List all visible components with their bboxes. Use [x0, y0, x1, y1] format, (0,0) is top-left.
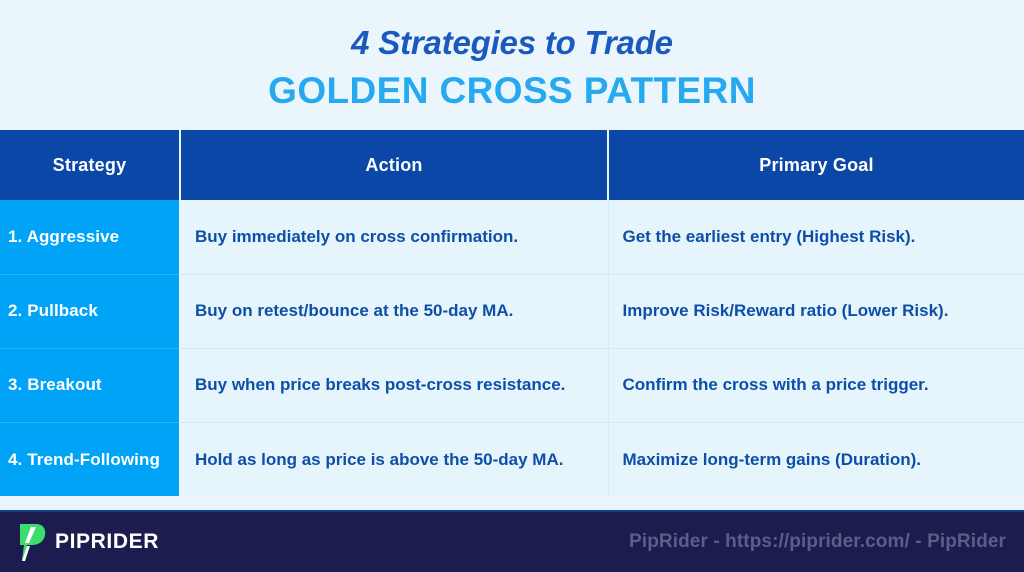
column-header-primary-goal: Primary Goal — [608, 130, 1024, 200]
brand-name: PIPRIDER — [55, 530, 159, 554]
title-block: 4 Strategies to Trade GOLDEN CROSS PATTE… — [0, 0, 1024, 130]
cell-action: Buy immediately on cross confirmation. — [180, 200, 608, 274]
cell-action: Buy when price breaks post-cross resista… — [180, 348, 608, 422]
footer-bar: PIPRIDER PipRider - https://piprider.com… — [0, 510, 1024, 572]
table-row: 3. Breakout Buy when price breaks post-c… — [0, 348, 1024, 422]
cell-primary-goal: Get the earliest entry (Highest Risk). — [608, 200, 1024, 274]
cell-action: Hold as long as price is above the 50-da… — [180, 422, 608, 496]
strategies-table: Strategy Action Primary Goal 1. Aggressi… — [0, 130, 1024, 496]
cell-strategy: 1. Aggressive — [0, 200, 180, 274]
footer-attribution: PipRider - https://piprider.com/ - PipRi… — [629, 531, 1006, 553]
table-header: Strategy Action Primary Goal — [0, 130, 1024, 200]
page-subtitle: GOLDEN CROSS PATTERN — [268, 71, 756, 112]
cell-strategy: 4. Trend-Following — [0, 422, 180, 496]
table-row: 4. Trend-Following Hold as long as price… — [0, 422, 1024, 496]
table-header-row: Strategy Action Primary Goal — [0, 130, 1024, 200]
brand-lockup[interactable]: PIPRIDER — [0, 522, 159, 562]
infographic-page: 4 Strategies to Trade GOLDEN CROSS PATTE… — [0, 0, 1024, 572]
page-title: 4 Strategies to Trade — [351, 25, 673, 61]
cell-primary-goal: Confirm the cross with a price trigger. — [608, 348, 1024, 422]
column-header-action: Action — [180, 130, 608, 200]
cell-strategy: 3. Breakout — [0, 348, 180, 422]
table-row: 2. Pullback Buy on retest/bounce at the … — [0, 274, 1024, 348]
table-row: 1. Aggressive Buy immediately on cross c… — [0, 200, 1024, 274]
table-body: 1. Aggressive Buy immediately on cross c… — [0, 200, 1024, 496]
cell-strategy: 2. Pullback — [0, 274, 180, 348]
column-header-strategy: Strategy — [0, 130, 180, 200]
cell-primary-goal: Improve Risk/Reward ratio (Lower Risk). — [608, 274, 1024, 348]
piprider-logo-icon — [16, 522, 46, 562]
cell-action: Buy on retest/bounce at the 50-day MA. — [180, 274, 608, 348]
cell-primary-goal: Maximize long-term gains (Duration). — [608, 422, 1024, 496]
